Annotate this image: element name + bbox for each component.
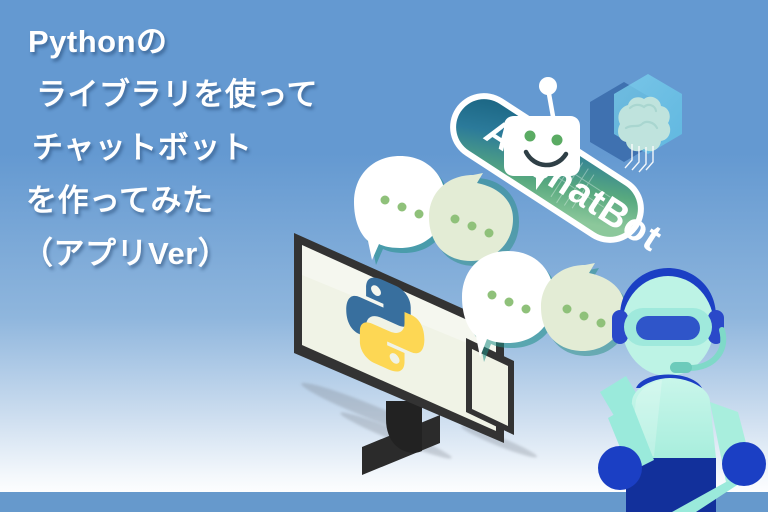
robot-head xyxy=(612,268,724,376)
headline-line-3: チャットボット xyxy=(22,132,312,163)
headline-line-2: ライブラリを使って xyxy=(22,79,312,110)
headline-line-1: Pythonの xyxy=(22,26,312,57)
ai-chatbot-badge: AI ChatBot xyxy=(440,78,655,258)
headline-line-4: を作ってみた xyxy=(22,185,312,216)
page-title: Pythonの ライブラリを使って チャットボット を作ってみた （アプリVer… xyxy=(22,26,312,291)
robot-operator xyxy=(592,268,768,512)
headline-line-5: （アプリVer） xyxy=(22,238,312,269)
banner-image: Pythonの ライブラリを使って チャットボット を作ってみた （アプリVer… xyxy=(0,0,768,512)
chatbot-head-icon xyxy=(504,77,580,190)
